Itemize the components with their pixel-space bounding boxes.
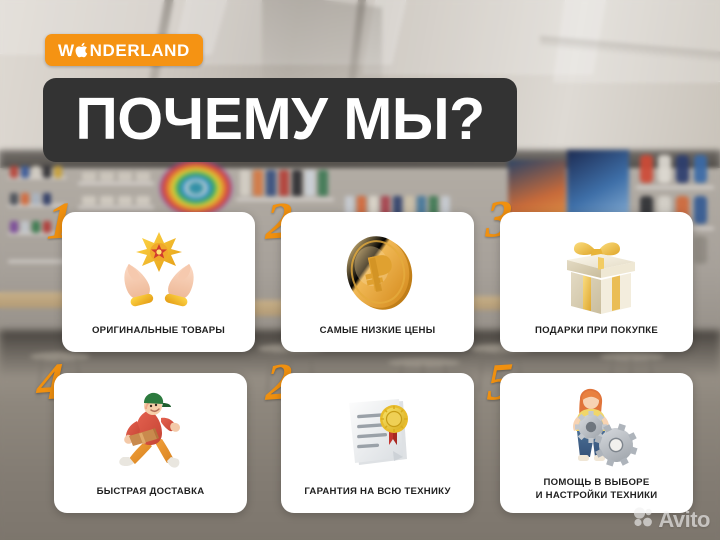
feature-card-6-label-line1: ПОМОЩЬ В ВЫБОРЕ [506,477,687,490]
product-case [305,170,315,196]
feature-card-4-label: БЫСТРАЯ ДОСТАВКА [54,486,247,513]
feature-card-4[interactable]: БЫСТРАЯ ДОСТАВКА [54,373,247,513]
product-case [266,170,276,196]
gift-box-icon [500,212,693,325]
product-case [21,166,29,178]
feature-card-6-label-line2: И НАСТРОЙКИ ТЕХНИКИ [506,490,687,503]
product-case [318,170,328,196]
feature-card-1-label: ОРИГИНАЛЬНЫЕ ТОВАРЫ [62,325,255,352]
product-case [10,193,18,205]
product-box [136,172,150,181]
promo-banner: W NDERLAND ПОЧЕМУ МЫ? 1 [0,0,720,540]
product-case [21,221,29,233]
logo-text-before: W [58,42,75,59]
product-case [240,170,250,196]
product-case [10,221,18,233]
product-case [32,221,40,233]
product-box [100,172,114,181]
feature-card-2-label: САМЫЕ НИЗКИЕ ЦЕНЫ [281,325,474,352]
product-box [82,172,96,181]
product-case [658,155,671,183]
feature-card-1[interactable]: ОРИГИНАЛЬНЫЕ ТОВАРЫ [62,212,255,352]
product-case [10,166,18,178]
product-case [694,155,707,183]
avito-watermark-text: Avito [658,509,710,531]
product-case [43,166,51,178]
product-box [118,172,132,181]
product-case [292,170,302,196]
feature-card-5[interactable]: ГАРАНТИЯ НА ВСЮ ТЕХНИКУ [281,373,474,513]
shelf [78,182,154,185]
product-case [640,155,653,183]
avito-dots-icon [633,507,653,532]
feature-card-6[interactable]: ПОМОЩЬ В ВЫБОРЕ И НАСТРОЙКИ ТЕХНИКИ [500,373,693,513]
product-case [32,193,40,205]
apple-icon [75,41,90,59]
feature-card-2[interactable]: САМЫЕ НИЗКИЕ ЦЕНЫ [281,212,474,352]
product-box [82,196,96,205]
brand-logo[interactable]: W NDERLAND [45,34,203,66]
product-case [694,236,707,264]
avito-watermark: Avito [633,507,710,532]
logo-text-after: NDERLAND [90,42,190,59]
certificate-with-rosette-icon [281,373,474,486]
feature-card-3[interactable]: ПОДАРКИ ПРИ ПОКУПКЕ [500,212,693,352]
shelf [636,186,714,189]
product-box [100,196,114,205]
page-title: ПОЧЕМУ МЫ? [43,78,517,162]
shelf [78,206,154,209]
page-title-text: ПОЧЕМУ МЫ? [75,90,484,149]
product-case [21,193,29,205]
product-case [32,166,40,178]
woman-with-gears-icon [500,373,693,477]
product-case [676,155,689,183]
product-box [118,196,132,205]
product-case [253,170,263,196]
feature-card-3-label: ПОДАРКИ ПРИ ПОКУПКЕ [500,325,693,352]
product-box [136,196,150,205]
product-case [54,166,62,178]
product-case [694,196,707,224]
gold-ruble-coin-icon [281,212,474,325]
shelf [8,260,66,263]
rainbow-rings-decor [160,160,232,216]
feature-card-5-label: ГАРАНТИЯ НА ВСЮ ТЕХНИКУ [281,486,474,513]
running-courier-icon [54,373,247,486]
open-hands-with-sparkle-badge-icon [62,212,255,325]
